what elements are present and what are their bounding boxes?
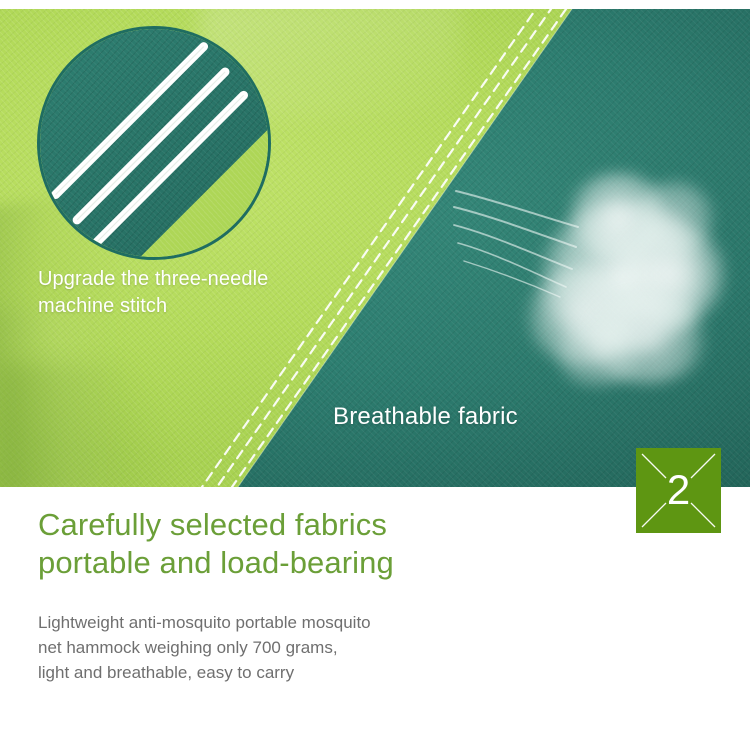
promo-banner: Upgrade the three-needle machine stitch … <box>0 0 750 750</box>
caption-stitch-line-2: machine stitch <box>38 295 167 317</box>
badge-number: 2 <box>636 448 721 533</box>
section-number-badge: 2 <box>636 448 721 533</box>
caption-three-needle-stitch: Upgrade the three-needle machine stitch <box>38 266 368 320</box>
headline-line-2: portable and load-bearing <box>38 544 598 582</box>
body-line-1: Lightweight anti-mosquito portable mosqu… <box>38 610 538 635</box>
page-title: Carefully selected fabrics portable and … <box>38 506 598 582</box>
headline-line-1: Carefully selected fabrics <box>38 506 598 544</box>
caption-breathable-fabric: Breathable fabric <box>333 402 518 432</box>
body-line-3: light and breathable, easy to carry <box>38 660 538 685</box>
hammock-fabric-photo: Upgrade the three-needle machine stitch … <box>0 9 750 487</box>
body-line-2: net hammock weighing only 700 grams, <box>38 635 538 660</box>
caption-stitch-line-1: Upgrade the three-needle <box>38 268 268 290</box>
stitch-detail-circle-inset <box>37 26 271 260</box>
inset-triple-stitch-lines <box>40 29 268 257</box>
product-description: Lightweight anti-mosquito portable mosqu… <box>38 610 538 685</box>
